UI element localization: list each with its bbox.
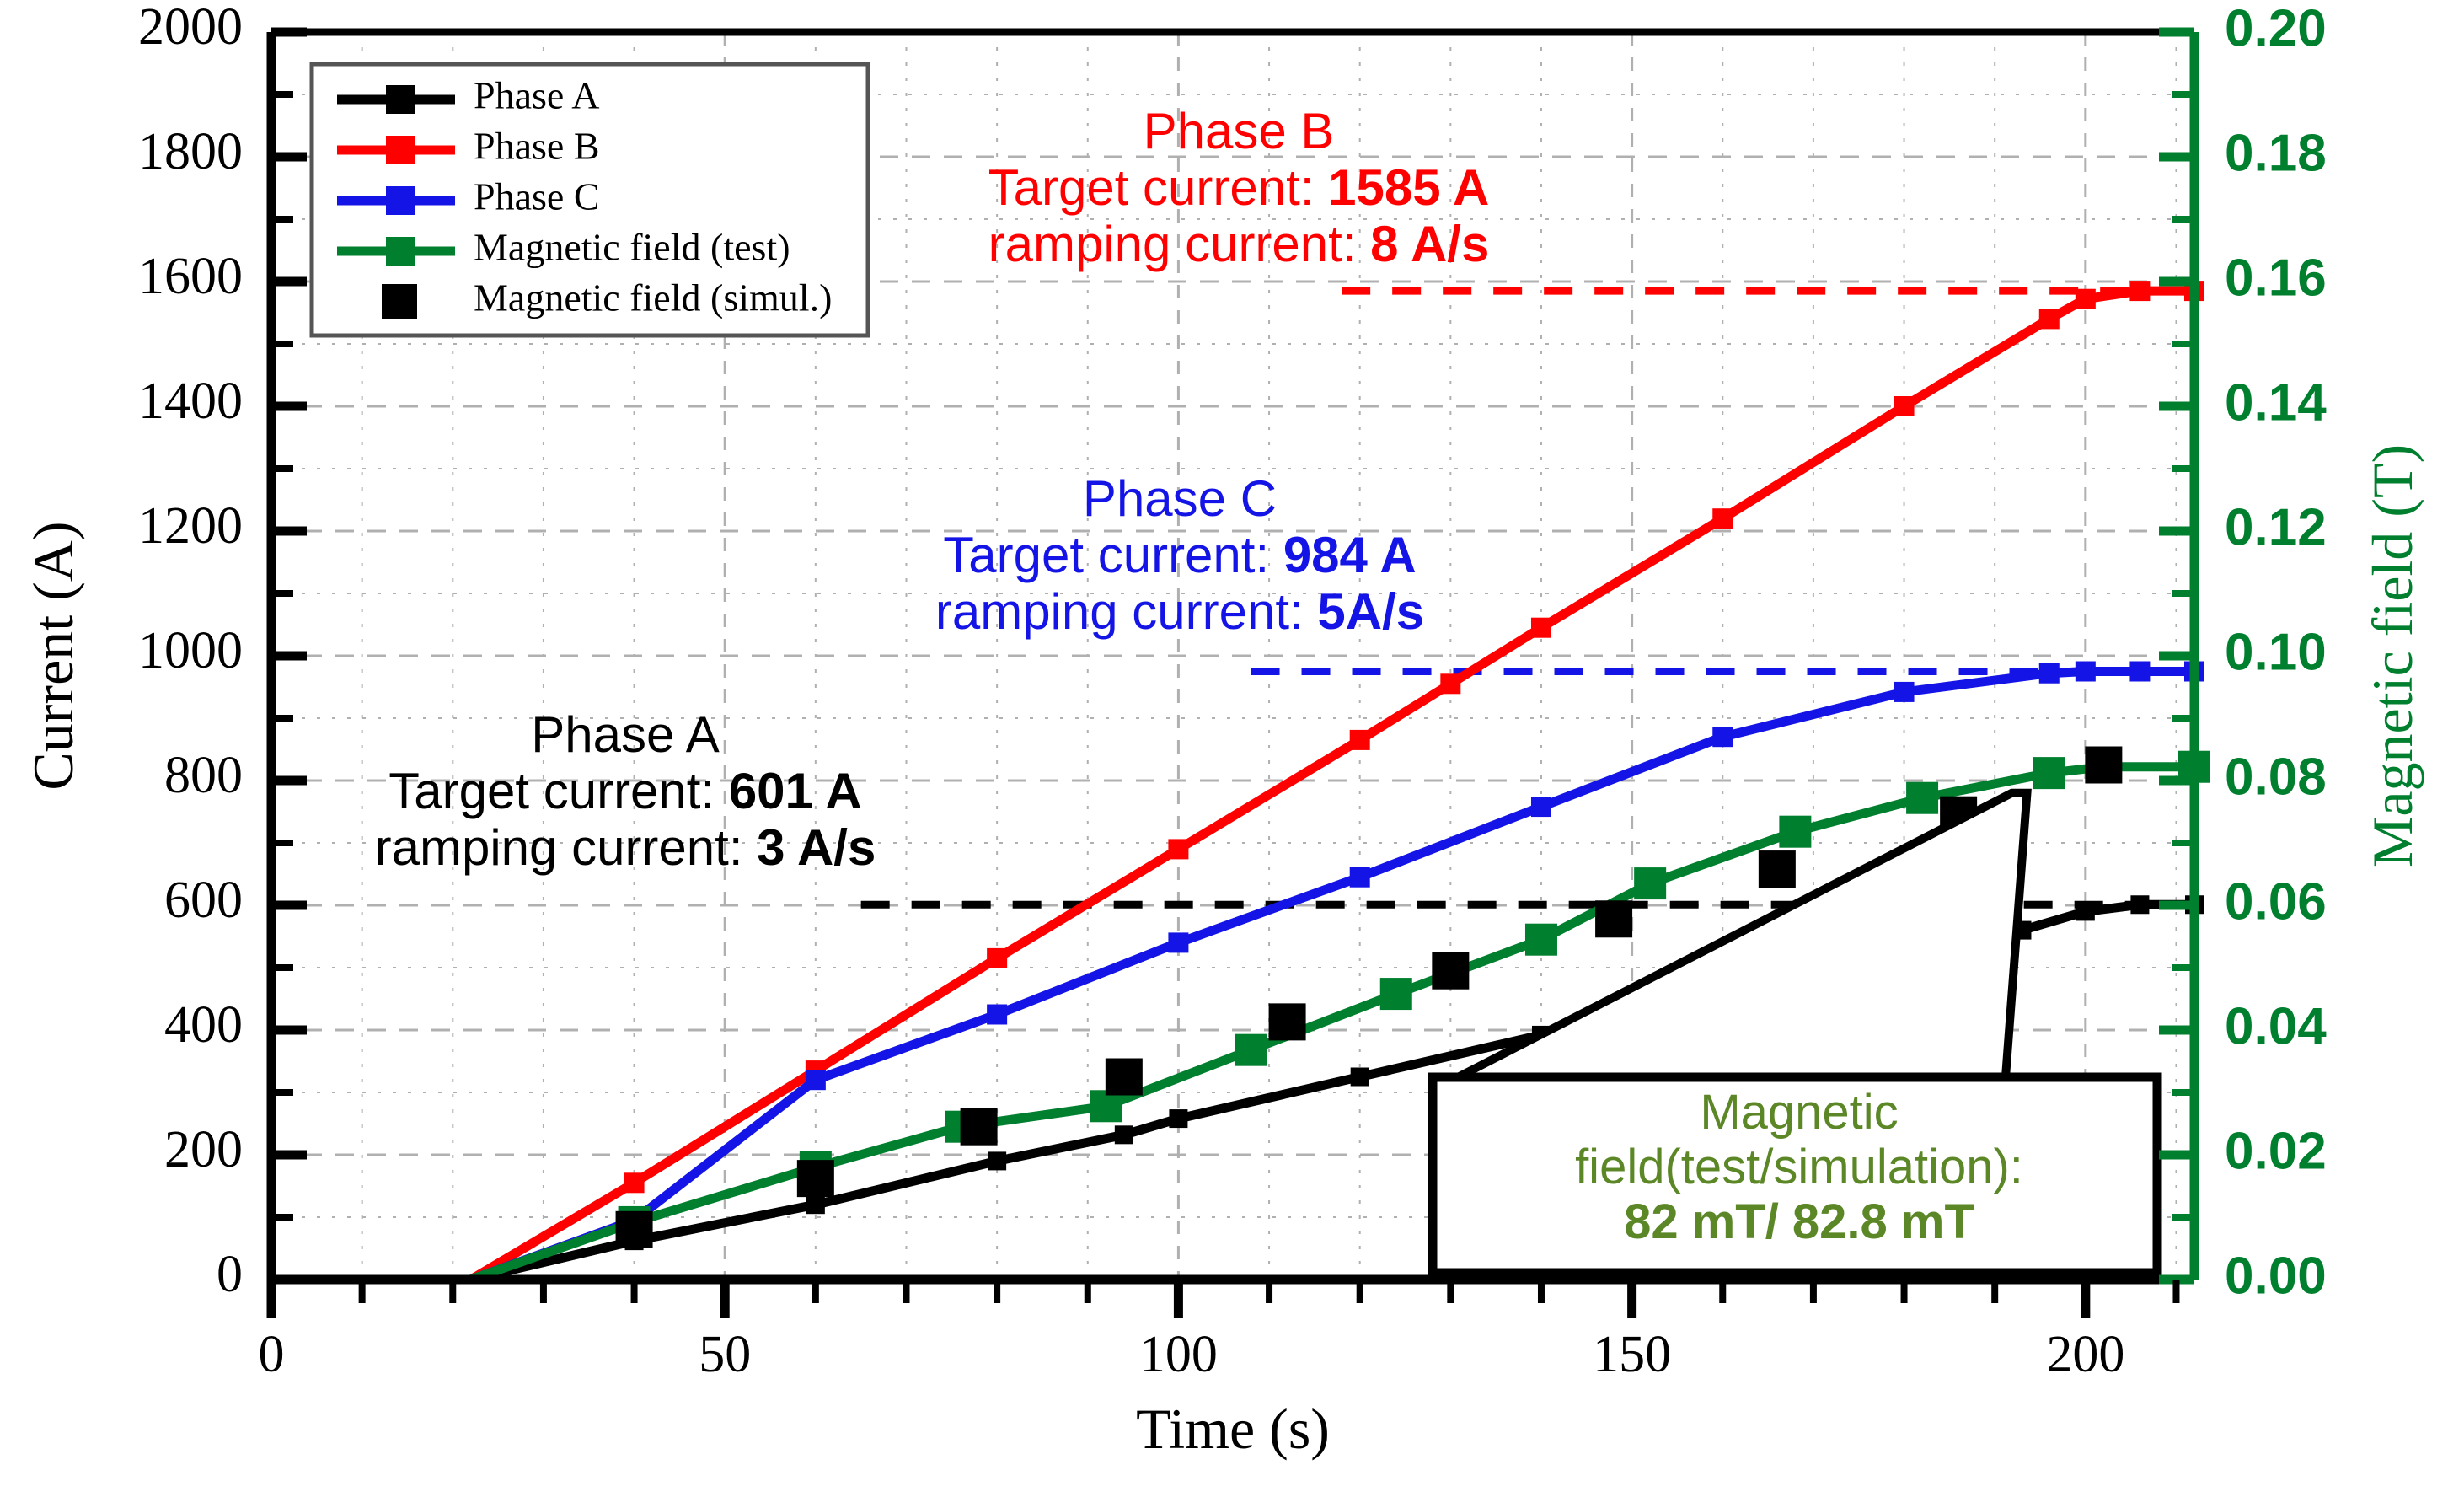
- y2tick-label: 0.04: [2225, 997, 2327, 1055]
- series-marker: [2076, 662, 2096, 682]
- callout-magnetic-field: Magnetic field(test/simulation): 82 mT/ …: [1449, 1086, 2149, 1250]
- series-marker: [987, 1005, 1007, 1025]
- y2tick-label: 0.02: [2225, 1122, 2327, 1180]
- series-marker: [2076, 289, 2096, 309]
- series-marker: [624, 1172, 645, 1193]
- series-marker: [1432, 952, 1469, 990]
- ytick-label: 1400: [138, 373, 243, 430]
- series-marker: [1712, 508, 1733, 529]
- series-marker: [2085, 747, 2122, 784]
- annotation-phase-b-ramp: ramping current: 8 A/s: [919, 216, 1559, 272]
- series-marker: [987, 948, 1007, 968]
- y2tick-label: 0.06: [2225, 872, 2327, 931]
- series-marker: [2130, 895, 2149, 914]
- ytick-label: 1000: [138, 622, 243, 679]
- series-marker: [961, 1108, 998, 1146]
- ytick-label: 200: [164, 1121, 243, 1178]
- series-marker: [1531, 797, 1551, 817]
- legend-label: Phase A: [474, 74, 600, 117]
- series-marker: [1712, 727, 1733, 747]
- series-marker: [1595, 900, 1632, 937]
- annotation-phase-c: Phase C Target current: 984 A ramping cu…: [860, 470, 1500, 641]
- annotation-phase-a: Phase A Target current: 601 A ramping cu…: [313, 706, 937, 877]
- legend-marker: [386, 85, 415, 114]
- series-marker: [1269, 1003, 1306, 1040]
- callout-line-3: 82 mT/ 82.8 mT: [1449, 1195, 2149, 1250]
- legend-marker: [386, 237, 415, 266]
- legend-label: Magnetic field (simul.): [474, 276, 832, 319]
- series-marker: [2129, 281, 2150, 301]
- xtick-label: 0: [259, 1326, 285, 1383]
- series-marker: [2039, 309, 2060, 329]
- series-marker: [988, 1151, 1006, 1170]
- series-marker: [2039, 663, 2060, 684]
- series-marker: [1906, 782, 1938, 814]
- annotation-phase-b-target: Target current: 1585 A: [919, 159, 1559, 216]
- series-marker: [1440, 673, 1460, 694]
- ytick-label: 1200: [138, 497, 243, 555]
- series-marker: [2129, 662, 2150, 682]
- series-marker: [2033, 757, 2065, 789]
- series-marker: [1525, 924, 1557, 956]
- xtick-label: 150: [1593, 1326, 1671, 1383]
- annotation-phase-b: Phase B Target current: 1585 A ramping c…: [919, 103, 1559, 273]
- annotation-phase-b-title: Phase B: [919, 103, 1559, 159]
- annotation-phase-c-ramp: ramping current: 5A/s: [860, 583, 1500, 640]
- series-marker: [2076, 902, 2095, 920]
- ytick-label: 0: [217, 1246, 243, 1303]
- series-marker: [1759, 850, 1796, 888]
- y2tick-label: 0.16: [2225, 249, 2327, 307]
- y2-axis-title: Magnetic field (T): [2360, 444, 2424, 867]
- ytick-label: 600: [164, 872, 243, 929]
- y2tick-label: 0.14: [2225, 373, 2327, 432]
- callout-line-2: field(test/simulation):: [1449, 1140, 2149, 1195]
- callout-line-1: Magnetic: [1449, 1086, 2149, 1140]
- series-marker: [1894, 396, 1915, 416]
- series-marker: [1351, 1068, 1369, 1087]
- series-marker: [1106, 1059, 1143, 1096]
- ytick-label: 1800: [138, 123, 243, 180]
- y-axis-title: Current (A): [21, 521, 85, 790]
- series-marker: [1168, 932, 1188, 952]
- y2tick-label: 0.00: [2225, 1247, 2327, 1305]
- legend-label: Phase C: [474, 175, 600, 218]
- series-marker: [1350, 867, 1370, 888]
- y2tick-label: 0.08: [2225, 748, 2327, 806]
- y2tick-label: 0.10: [2225, 623, 2327, 681]
- x-axis-title: Time (s): [1136, 1397, 1330, 1461]
- series-marker: [1380, 978, 1412, 1010]
- chart-root: 02004006008001000120014001600180020000.0…: [0, 0, 2464, 1497]
- xtick-label: 100: [1139, 1326, 1218, 1383]
- annotation-phase-c-target: Target current: 984 A: [860, 527, 1500, 583]
- series-marker: [806, 1070, 826, 1090]
- ytick-label: 800: [164, 747, 243, 804]
- series-marker: [1779, 816, 1811, 848]
- series-marker: [1169, 1109, 1187, 1128]
- legend-marker: [386, 186, 415, 215]
- series-marker: [1634, 867, 1666, 899]
- annotation-phase-a-target: Target current: 601 A: [313, 763, 937, 819]
- ytick-label: 2000: [138, 0, 243, 56]
- legend-marker: [386, 136, 415, 164]
- series-marker: [806, 1195, 825, 1214]
- xtick-label: 200: [2046, 1326, 2124, 1383]
- annotation-phase-c-title: Phase C: [860, 470, 1500, 527]
- series-marker: [797, 1160, 834, 1197]
- ytick-label: 400: [164, 996, 243, 1054]
- y2tick-label: 0.12: [2225, 498, 2327, 556]
- series-marker: [616, 1211, 653, 1248]
- series-marker: [1235, 1034, 1267, 1066]
- series-marker: [1894, 682, 1915, 702]
- annotation-phase-a-ramp: ramping current: 3 A/s: [313, 819, 937, 876]
- series-marker: [1531, 618, 1551, 638]
- legend-label: Phase B: [474, 125, 600, 168]
- legend-label: Magnetic field (test): [474, 226, 790, 269]
- series-marker: [1168, 839, 1188, 859]
- series-marker: [1350, 730, 1370, 750]
- y2tick-label: 0.20: [2225, 0, 2327, 57]
- y2tick-label: 0.18: [2225, 124, 2327, 182]
- series-marker: [1115, 1125, 1133, 1144]
- legend-marker: [382, 284, 417, 319]
- ytick-label: 1600: [138, 248, 243, 305]
- xtick-label: 50: [699, 1326, 751, 1383]
- annotation-phase-a-title: Phase A: [313, 706, 937, 763]
